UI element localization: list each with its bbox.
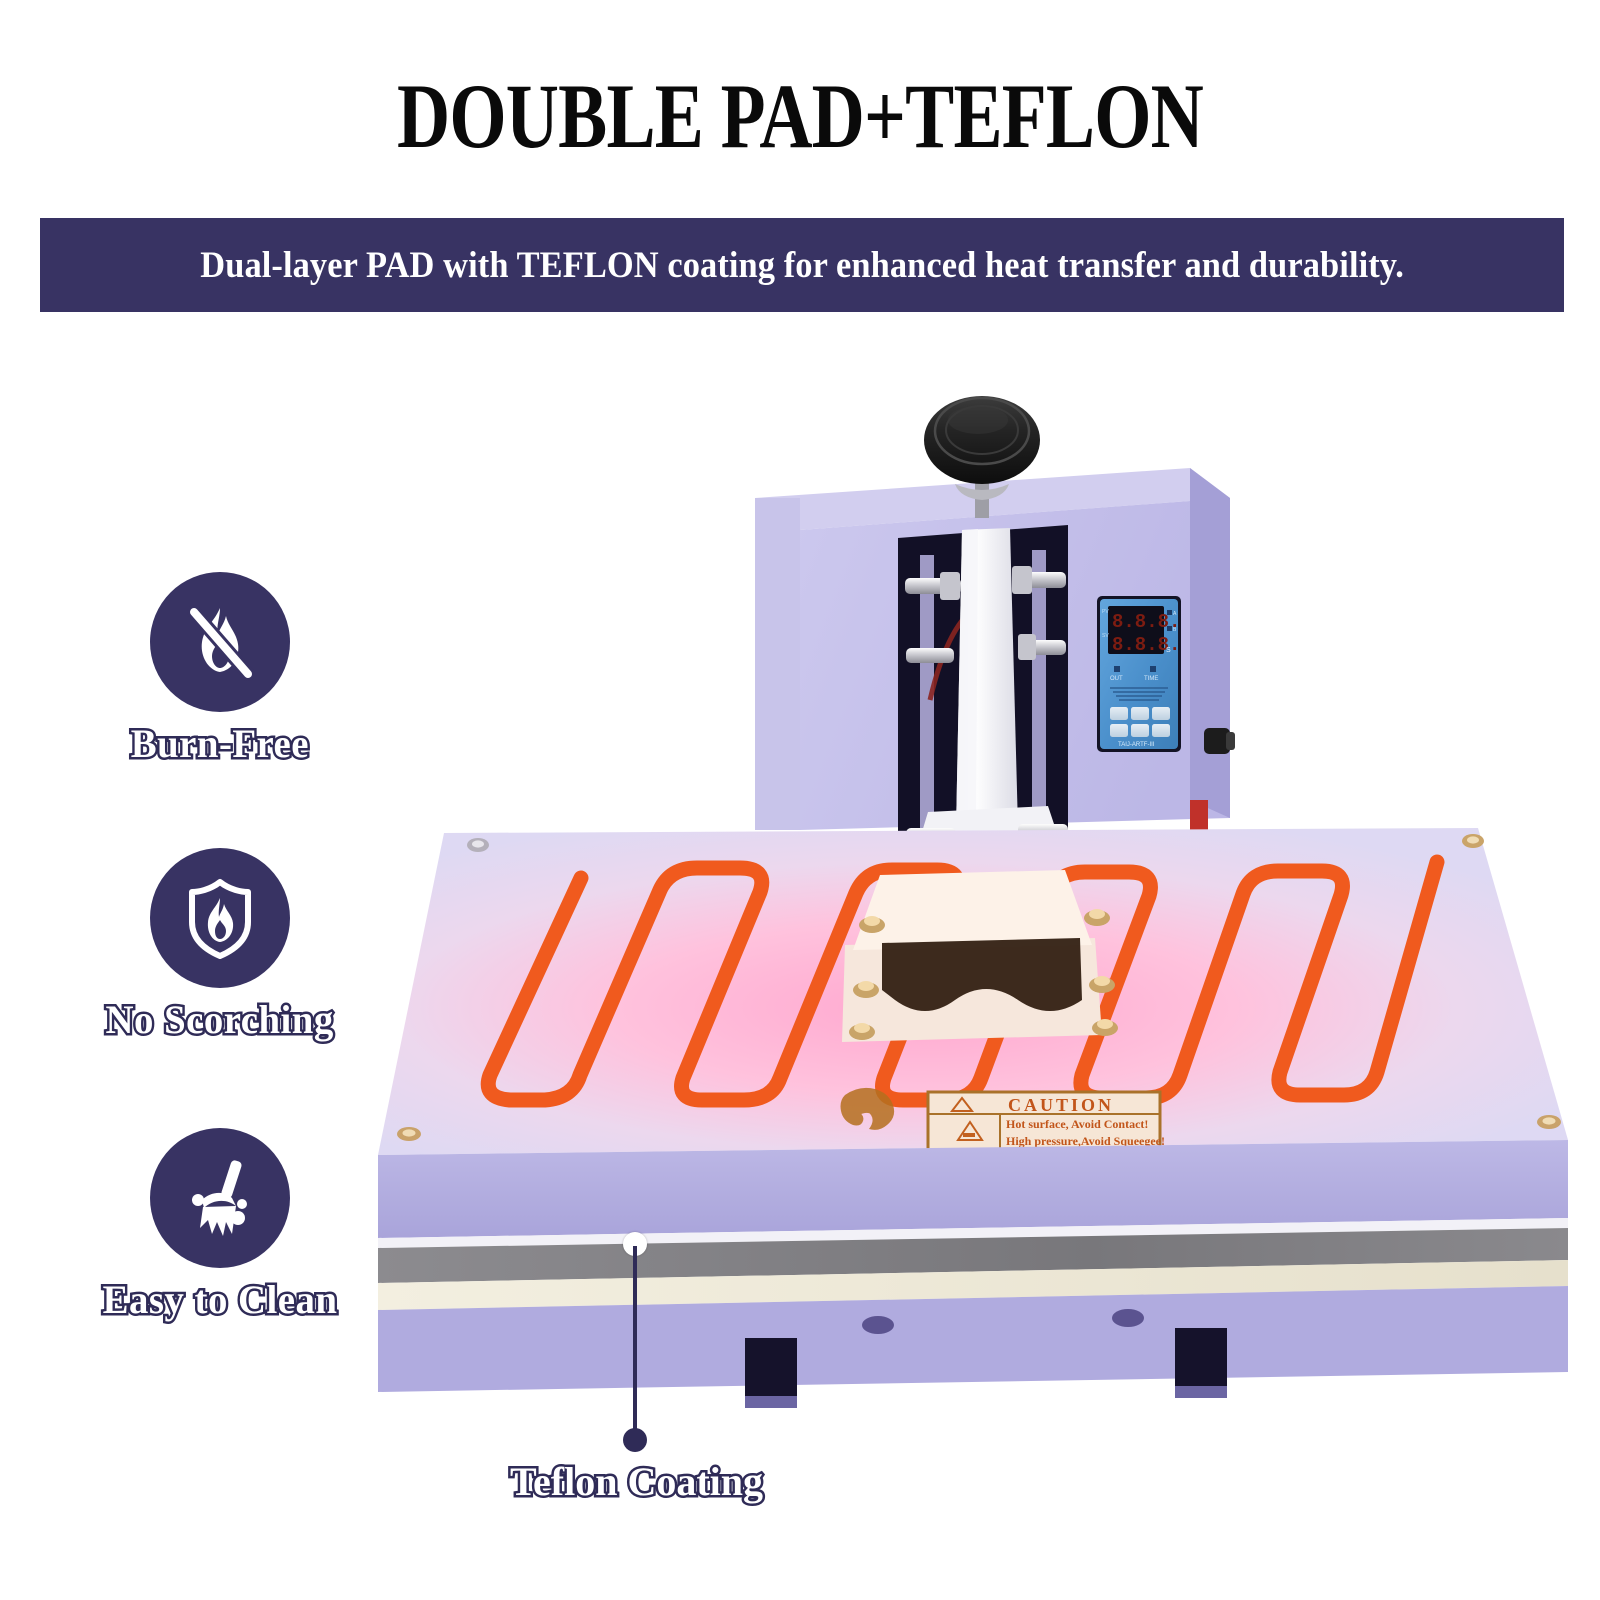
- warning-triangle-icon-2: [958, 1122, 982, 1140]
- panel-bezel: [1097, 596, 1181, 752]
- press-mechanism: [898, 525, 1068, 852]
- display-temperature-value: 8.8.8.: [1112, 611, 1180, 633]
- panel-face: [1100, 599, 1178, 749]
- base-foot-pad-right: [1112, 1309, 1144, 1327]
- knob-ring-outer: [935, 398, 1029, 464]
- leg-right: [1175, 1328, 1227, 1398]
- callout-end-dot: [623, 1428, 647, 1452]
- fixture-base-plate: [842, 938, 1102, 1042]
- side-controls[interactable]: [1190, 728, 1235, 830]
- badge-circle-no-scorching: [150, 848, 290, 988]
- led-label-time: TIME: [1144, 676, 1158, 682]
- panel-decor-stripes: [1110, 688, 1168, 700]
- feature-badge-no-scorching: No Scorching: [60, 848, 380, 1043]
- panel-button-6[interactable]: [1152, 724, 1170, 737]
- label-pv: PV: [1102, 609, 1109, 615]
- caution-label: CAUTION Hot surface, Avoid Contact! High…: [928, 1092, 1165, 1150]
- mechanism-plate-left: [920, 555, 934, 830]
- flame-no-burn-icon: [174, 596, 266, 688]
- teflon-coating-callout: Teflon Coating: [565, 1232, 985, 1522]
- mechanism-bolts: [905, 566, 1068, 846]
- feature-label-easy-to-clean: Easy to Clean: [103, 1276, 338, 1323]
- press-head-housing: [755, 468, 1230, 830]
- press-column: [956, 528, 1018, 830]
- indicator-led-2: [1167, 626, 1172, 631]
- indicator-label-2: B: [1173, 627, 1177, 633]
- panel-buttons[interactable]: [1110, 707, 1170, 737]
- badge-circle-burn-free: [150, 572, 290, 712]
- panel-button-4[interactable]: [1110, 724, 1128, 737]
- led-time: [1150, 666, 1156, 672]
- subtitle-text: Dual-layer PAD with TEFLON coating for e…: [200, 244, 1404, 287]
- warning-triangle-icon-1: [952, 1098, 972, 1111]
- feature-badge-burn-free: Burn-Free: [60, 572, 380, 767]
- knob-highlight: [948, 406, 1008, 434]
- svg-text:8.8.8.: 8.8.8.: [1112, 634, 1180, 656]
- knob-ring-inner: [946, 406, 1018, 454]
- caution-label-background: [928, 1092, 1160, 1150]
- control-panel[interactable]: 8.8.8. 8.8.8. PV SV S A B OUT TIME: [1097, 596, 1181, 752]
- indicator-led-1: [1167, 610, 1172, 615]
- knob-washer: [955, 484, 1009, 500]
- platen-top-surface: [378, 828, 1568, 1155]
- housing-front-face: [800, 498, 1230, 830]
- feature-badge-easy-to-clean: Easy to Clean: [60, 1128, 380, 1323]
- panel-button-2[interactable]: [1131, 707, 1149, 720]
- caution-line-2: High pressure,Avoid Squeegee!: [1006, 1134, 1165, 1148]
- indicator-label-1: A: [1173, 611, 1177, 617]
- feature-label-burn-free: Burn-Free: [131, 720, 309, 767]
- internal-wire: [930, 616, 966, 700]
- pressure-adjust-knob[interactable]: [924, 396, 1040, 518]
- unit-seconds: S: [1166, 647, 1171, 654]
- callout-label-teflon-coating: Teflon Coating: [510, 1458, 763, 1505]
- fixture-upper-plate: [853, 870, 1092, 950]
- power-switch[interactable]: [1190, 800, 1208, 830]
- center-fixture-plate: [842, 870, 1118, 1042]
- leg-right-foot: [1175, 1386, 1227, 1398]
- display-time-value: 8.8.8.: [1112, 634, 1180, 656]
- brand-lion-logo: [841, 1088, 895, 1130]
- side-knob-cap: [1226, 732, 1235, 750]
- serpentine-heating-element: [488, 862, 1437, 1100]
- housing-right-face: [1190, 468, 1230, 818]
- shield-flame-icon: [174, 872, 266, 964]
- panel-button-3[interactable]: [1152, 707, 1170, 720]
- panel-button-1[interactable]: [1110, 707, 1128, 720]
- label-sv: SV: [1102, 633, 1109, 639]
- column-foot: [916, 806, 1062, 852]
- led-label-out: OUT: [1110, 676, 1123, 682]
- housing-left-face: [755, 498, 800, 830]
- fixture-dark-strip: [882, 938, 1082, 1011]
- badge-circle-easy-to-clean: [150, 1128, 290, 1268]
- subtitle-band: Dual-layer PAD with TEFLON coating for e…: [40, 218, 1564, 312]
- caution-line-1: Hot surface, Avoid Contact!: [1006, 1117, 1148, 1131]
- broom-icon: [174, 1152, 266, 1244]
- svg-text:8.8.8.: 8.8.8.: [1112, 611, 1180, 633]
- caution-title: CAUTION: [1008, 1095, 1114, 1115]
- callout-leader-line: [633, 1246, 637, 1438]
- mechanism-cavity: [898, 525, 1068, 838]
- housing-top-face: [755, 468, 1230, 530]
- mechanism-plate-right: [1032, 550, 1046, 825]
- platen-front-face: [378, 1140, 1568, 1238]
- led-out: [1114, 666, 1120, 672]
- knob-body[interactable]: [924, 396, 1040, 484]
- panel-button-5[interactable]: [1131, 724, 1149, 737]
- knob-shaft: [975, 480, 989, 518]
- column-highlight: [956, 529, 978, 830]
- page-title: DOUBLE PAD+TEFLON: [160, 68, 1440, 165]
- fixture-standoffs: [849, 909, 1118, 1040]
- feature-label-no-scorching: No Scorching: [106, 996, 334, 1043]
- platen-corner-screws: [397, 834, 1561, 1141]
- side-knob[interactable]: [1204, 728, 1230, 754]
- lower-platen: [378, 828, 1568, 1155]
- panel-model-label: TAIJ-ARTF-III: [1118, 742, 1155, 748]
- panel-display-window: [1108, 606, 1164, 654]
